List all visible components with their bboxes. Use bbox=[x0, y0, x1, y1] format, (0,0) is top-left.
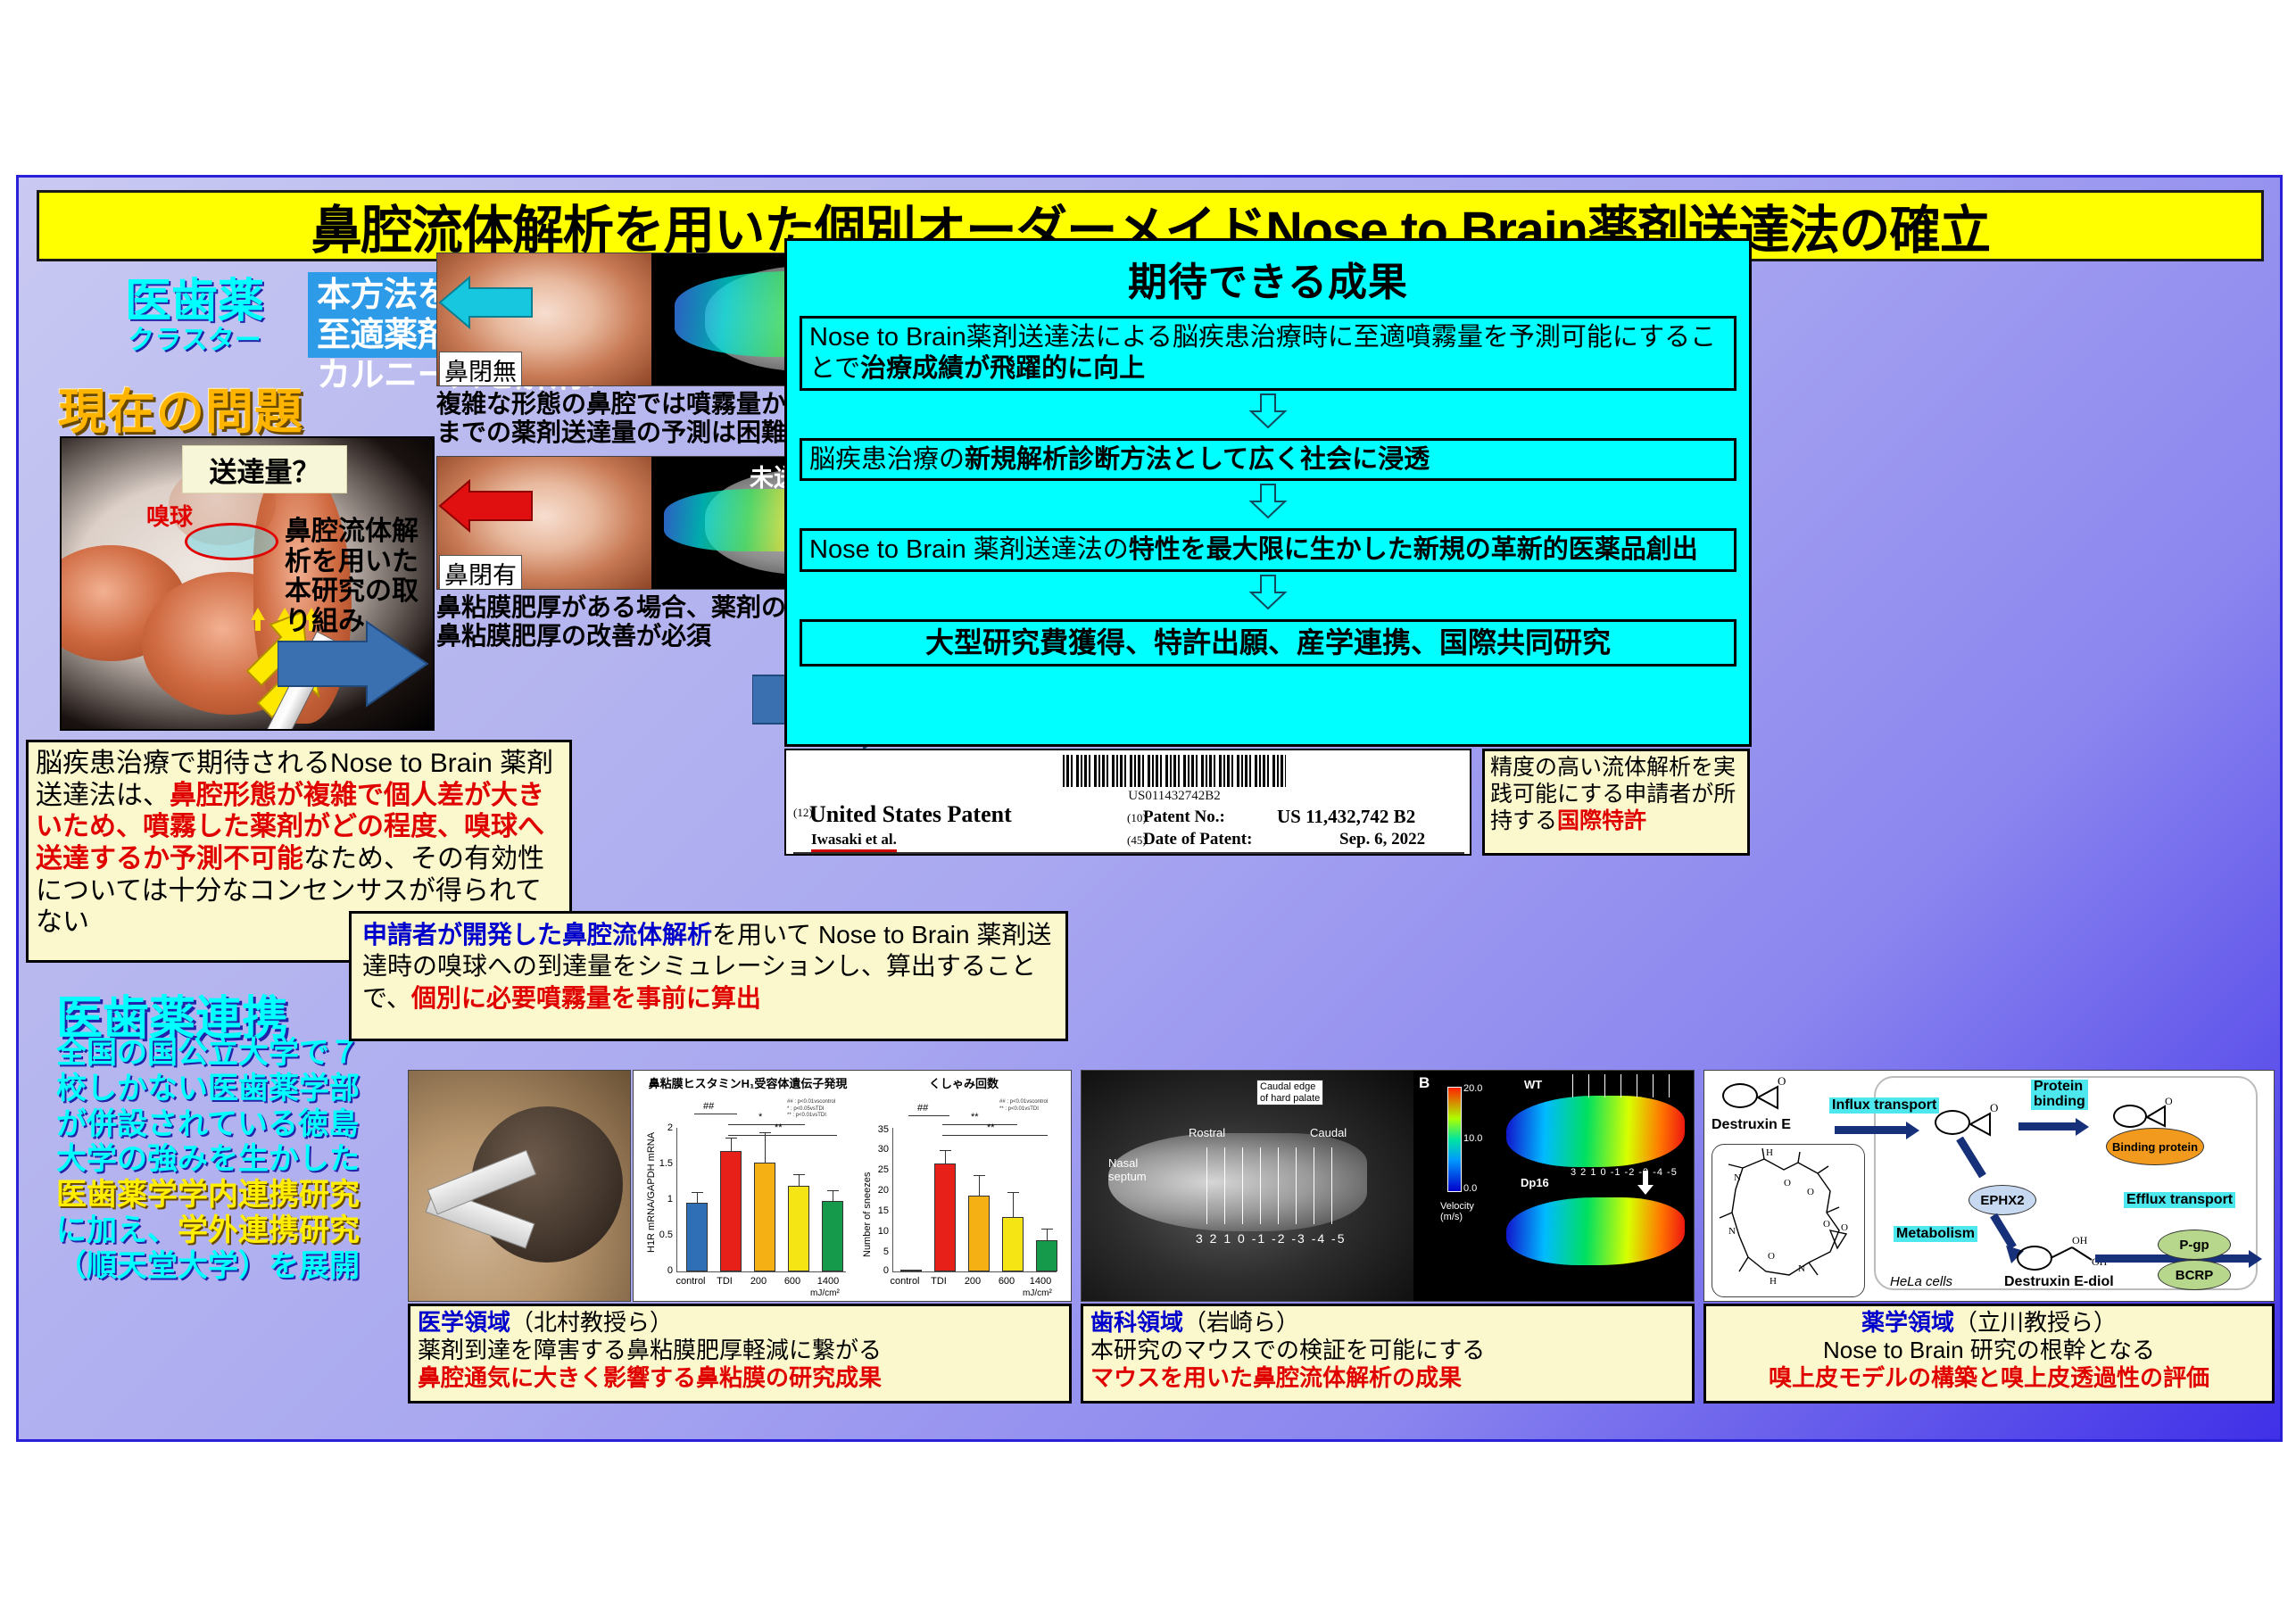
chart-1-xtick: 600 bbox=[775, 1276, 810, 1287]
efflux-arrowhead-icon bbox=[2249, 1250, 2262, 1268]
influx-arrow-icon bbox=[1835, 1126, 1906, 1134]
caption-3-line-2: Nose to Brain 研究の根幹となる bbox=[1713, 1337, 2265, 1364]
chart-1-annotation: ## bbox=[703, 1101, 714, 1112]
section-title-current-problem: 現在の問題 bbox=[58, 372, 303, 443]
poster-canvas: 鼻腔流体解析を用いた個別オーダーメイドNose to Brain薬剤送達法の確立… bbox=[16, 175, 2283, 1442]
outcome-flow-arrow-3 bbox=[787, 575, 1749, 610]
chart-1-ytick: 0.5 bbox=[653, 1230, 673, 1240]
svg-text:H: H bbox=[1770, 1276, 1777, 1287]
chart-2-ytick: 25 bbox=[867, 1164, 889, 1175]
flow-field-dp16 bbox=[1506, 1197, 1685, 1265]
microct-tick bbox=[1206, 1147, 1207, 1224]
arrow-down-icon bbox=[1248, 393, 1288, 429]
applicant-method-text: 申請者が開発した鼻腔流体解析を用いて Nose to Brain 薬剤送達時の嗅… bbox=[362, 919, 1055, 1014]
enzyme-ephx2-oval: EPHX2 bbox=[1969, 1185, 2036, 1215]
chart-2-errorcap bbox=[940, 1150, 951, 1151]
chart-2-ytick: 0 bbox=[867, 1265, 889, 1276]
svg-text:N: N bbox=[1728, 1226, 1736, 1237]
label-wt: WT bbox=[1524, 1078, 1542, 1091]
label-metabolism: Metabolism bbox=[1894, 1226, 1977, 1242]
outcome-item-2: 脳疾患治療の新規解析診断方法として広く社会に浸透 bbox=[800, 438, 1737, 482]
arrow-down-icon bbox=[1248, 484, 1288, 519]
nose-patent-status-tag: 鼻閉無 bbox=[439, 352, 522, 386]
cluster-label-main: 医歯薬 bbox=[65, 277, 324, 327]
microct-tick-row: 3 2 1 0 -1 -2 -3 -4 -5 bbox=[1196, 1231, 1347, 1246]
applicant-method-box: 申請者が開発した鼻腔流体解析を用いて Nose to Brain 薬剤送達時の嗅… bbox=[349, 911, 1068, 1041]
chemical-structure-destruxin-e: H N N O O O O N O H bbox=[1712, 1144, 1865, 1297]
chart-2-sigline bbox=[942, 1135, 1048, 1136]
microct-tick bbox=[1314, 1147, 1314, 1224]
outcome-3-bold: 特性を最大限に生かした新規の革新的医薬品創出 bbox=[1129, 535, 1698, 564]
colorbar-max: 20.0 bbox=[1463, 1083, 1482, 1094]
colorbar-min: 0.0 bbox=[1463, 1183, 1477, 1194]
microct-tick-row-velocity: 3 2 1 0 -1 -2 -3 -4 -5 bbox=[1571, 1167, 1678, 1178]
chart-2-unit-label: mJ/cm² bbox=[1023, 1288, 1052, 1298]
chart-1-sigline bbox=[728, 1135, 837, 1136]
chart-1-bar bbox=[686, 1203, 708, 1271]
chart-1-ytick: 1 bbox=[653, 1194, 673, 1205]
chart-2-sigline bbox=[942, 1124, 1017, 1125]
chart-panel-histamine-sneeze: 鼻粘膜ヒスタミンH₁受容体遺伝子発現 H1R mRNA/GAPDH mRNA 2… bbox=[633, 1070, 1072, 1302]
patent-number-label: Patent No.: bbox=[1143, 807, 1225, 827]
chart-2-xtick: 600 bbox=[989, 1276, 1024, 1287]
epoxide-group-icon: O bbox=[1754, 1076, 1799, 1119]
svg-text:O: O bbox=[1768, 1251, 1775, 1262]
svg-text:O: O bbox=[2165, 1096, 2173, 1107]
chart-1-errorcap bbox=[692, 1192, 703, 1193]
olfactory-bulb-highlight bbox=[185, 523, 278, 560]
chart-1-errorbar bbox=[765, 1133, 766, 1163]
cyan-arrow-left-icon bbox=[438, 276, 536, 329]
microct-nasal-septum-label: Nasal septum bbox=[1108, 1156, 1147, 1183]
molecule-ring-icon bbox=[2113, 1105, 2147, 1128]
velocity-colorbar bbox=[1447, 1087, 1462, 1192]
chart-2-bar bbox=[968, 1196, 990, 1271]
influx-arrowhead-icon bbox=[1906, 1122, 1919, 1139]
chart-2-sigline bbox=[908, 1115, 949, 1116]
method-text-red: 個別に必要噴霧量を事前に算出 bbox=[411, 984, 761, 1012]
chart-1-bar bbox=[788, 1186, 809, 1271]
microct-flow-panel: Caudal edge of hard palate Nasal septum … bbox=[1081, 1070, 1695, 1302]
arrow-down-icon bbox=[1637, 1171, 1654, 1196]
chart-1-xtick: control bbox=[673, 1276, 709, 1287]
chart-2-plot bbox=[892, 1128, 1057, 1272]
chart-2-errorcap bbox=[1041, 1229, 1053, 1230]
svg-text:N: N bbox=[1734, 1172, 1741, 1183]
chart-2-bar bbox=[900, 1270, 922, 1271]
outcome-flow-arrow-2 bbox=[787, 484, 1749, 519]
chart-1-legend-note: ## : p<0.01vscontrol * : p<0.05vsTDI ** … bbox=[787, 1099, 835, 1120]
microct-tick bbox=[1669, 1074, 1670, 1097]
panel-label-b: B bbox=[1419, 1074, 1430, 1092]
chart-2-bar bbox=[934, 1163, 956, 1271]
chart-1-plot bbox=[676, 1128, 846, 1272]
chart-1-errorcap bbox=[725, 1138, 737, 1139]
expected-outcomes-panel: 期待できる成果 Nose to Brain薬剤送達法による脳疾患治療時に至適噴霧… bbox=[784, 238, 1752, 747]
red-arrow-left-icon bbox=[438, 479, 536, 533]
patent-number-value: US 11,432,742 B2 bbox=[1277, 806, 1415, 828]
label-efflux-transport: Efflux transport bbox=[2124, 1192, 2235, 1208]
microct-caudal-edge-label: Caudal edge of hard palate bbox=[1256, 1080, 1323, 1105]
chart-2-bar bbox=[1002, 1217, 1024, 1271]
chart-1-bar bbox=[754, 1163, 775, 1271]
microct-tick bbox=[1637, 1074, 1637, 1097]
svg-text:O: O bbox=[1823, 1219, 1830, 1230]
chart-1-ytick: 0 bbox=[653, 1265, 673, 1276]
bottom-caption-pharmacy: 薬学領域（立川教授ら） Nose to Brain 研究の根幹となる 嗅上皮モデ… bbox=[1703, 1304, 2275, 1404]
patent-author: Iwasaki et al. bbox=[811, 831, 897, 852]
svg-text:O: O bbox=[1841, 1222, 1848, 1233]
chart-2-xtick: control bbox=[887, 1276, 923, 1287]
chart-2-errorcap bbox=[974, 1175, 985, 1176]
chart-1-errorbar bbox=[833, 1191, 833, 1201]
chart-1-xtick: 1400 bbox=[808, 1276, 848, 1287]
transporter-pgp-oval: P-gp bbox=[2158, 1230, 2231, 1260]
outcome-item-final: 大型研究費獲得、特許出願、産学連携、国際共同研究 bbox=[800, 619, 1737, 666]
svg-text:H: H bbox=[1766, 1147, 1773, 1158]
barcode-number: US011432742B2 bbox=[1063, 789, 1286, 804]
outcome-2-bold: 新規解析診断方法として広く社会に浸透 bbox=[965, 445, 1430, 474]
renkei-yellow-1: 医歯薬学学内連携研究 bbox=[56, 1178, 360, 1212]
molecule-ring-icon bbox=[1722, 1083, 1758, 1108]
patent-date-label: Date of Patent: bbox=[1143, 830, 1252, 849]
caption-3-paren: （立川教授ら） bbox=[1954, 1309, 2117, 1336]
patent-document-image: US011432742B2 (12) United States Patent … bbox=[784, 749, 1471, 856]
chart-1-bar bbox=[822, 1201, 843, 1271]
microct-airway bbox=[1108, 1133, 1367, 1231]
microct-tick bbox=[1620, 1074, 1621, 1097]
chart-2-xtick: TDI bbox=[921, 1276, 957, 1287]
label-dp16: Dp16 bbox=[1521, 1176, 1549, 1189]
microct-tick bbox=[1278, 1147, 1279, 1224]
chart-2-xtick: 200 bbox=[955, 1276, 991, 1287]
microct-caudal-label: Caudal bbox=[1310, 1126, 1347, 1139]
microct-tick bbox=[1588, 1074, 1589, 1097]
chart-1-sigline bbox=[728, 1124, 805, 1125]
caption-3-line-1: 薬学領域（立川教授ら） bbox=[1713, 1309, 2265, 1337]
svg-text:O: O bbox=[1784, 1178, 1791, 1188]
epoxide-group-icon: O bbox=[2143, 1096, 2184, 1133]
microct-tick bbox=[1572, 1074, 1573, 1097]
molecule-ring-icon bbox=[2017, 1246, 2052, 1271]
microct-rostral-label: Rostral bbox=[1189, 1126, 1225, 1139]
renkei-cyan-1: 全国の国公立大学で７校しかない医歯薬学部が併設されている徳島大学の強みを生かした bbox=[56, 1036, 360, 1176]
chart-1-errorcap bbox=[827, 1190, 839, 1191]
caption-2-line-3: マウスを用いた鼻腔流体解析の成果 bbox=[1090, 1364, 1685, 1392]
caption-2-header: 歯科領域 bbox=[1090, 1309, 1183, 1336]
problem-description-text: 脳疾患治療で期待されるNose to Brain 薬剤送達法は、鼻腔形態が複雑で… bbox=[36, 748, 562, 939]
blue-arrow-right-icon bbox=[278, 615, 429, 713]
chart-1-annotation: * bbox=[758, 1112, 762, 1122]
cluster-label-sub: クラスター bbox=[65, 327, 324, 355]
microct-tick bbox=[1242, 1147, 1243, 1224]
chart-2-xtick: 1400 bbox=[1021, 1276, 1060, 1287]
chart-2-ytick: 20 bbox=[867, 1185, 889, 1196]
arrow-down-icon bbox=[1248, 575, 1288, 610]
chart-1-bar bbox=[720, 1151, 742, 1271]
caption-1-paren: （北村教授ら） bbox=[510, 1309, 673, 1336]
chart-1-annotation: ** bbox=[775, 1122, 783, 1133]
chart-2-bar bbox=[1036, 1240, 1057, 1271]
chart-2-errorcap bbox=[1007, 1192, 1019, 1193]
transporter-bcrp-oval: BCRP bbox=[2158, 1260, 2231, 1290]
chart-1-errorbar bbox=[697, 1193, 698, 1203]
outcome-2-plain: 脳疾患治療の bbox=[809, 445, 965, 474]
caption-2-line-1: 歯科領域（岩崎ら） bbox=[1090, 1309, 1685, 1337]
chart-1-xtick: TDI bbox=[707, 1276, 742, 1287]
collaboration-description: 全国の国公立大学で７校しかない医歯薬学部が併設されている徳島大学の強みを生かした… bbox=[56, 1036, 386, 1284]
chart-2-annotation: ** bbox=[971, 1112, 979, 1122]
outcome-3-plain: Nose to Brain 薬剤送達法の bbox=[809, 535, 1129, 564]
chart-1-xtick: 200 bbox=[741, 1276, 776, 1287]
chart-1-ytick: 2 bbox=[653, 1122, 673, 1133]
binding-arrowhead-icon bbox=[2076, 1118, 2089, 1136]
caption-1-line-3: 鼻腔通気に大きく影響する鼻粘膜の研究成果 bbox=[418, 1364, 1062, 1392]
mouse-photo bbox=[408, 1070, 631, 1302]
caption-1-line-1: 医学領域（北村教授ら） bbox=[418, 1309, 1062, 1337]
caption-2-paren: （岩崎ら） bbox=[1183, 1309, 1299, 1336]
bottom-caption-dentistry: 歯科領域（岩崎ら） 本研究のマウスでの検証を可能にする マウスを用いた鼻腔流体解… bbox=[1081, 1304, 1695, 1404]
patent-note-red: 国際特許 bbox=[1557, 808, 1646, 833]
label-destruxin-e: Destruxin E bbox=[1712, 1117, 1791, 1133]
colorbar-unit: Velocity (m/s) bbox=[1440, 1201, 1474, 1222]
patent-date-value: Sep. 6, 2022 bbox=[1339, 830, 1425, 849]
cluster-label: 医歯薬 クラスター bbox=[65, 277, 324, 376]
microct-tick bbox=[1653, 1074, 1654, 1097]
chart-2-errorbar bbox=[1047, 1230, 1048, 1240]
outcome-1-bold: 治療成績が飛躍的に向上 bbox=[860, 354, 1145, 383]
svg-text:O: O bbox=[1807, 1187, 1814, 1197]
delivery-amount-label: 送達量？ bbox=[182, 445, 347, 493]
binding-arrow-icon bbox=[2018, 1122, 2076, 1130]
chart-1-unit-label: mJ/cm² bbox=[810, 1288, 840, 1298]
microct-tick bbox=[1296, 1147, 1297, 1224]
chart-1-title: 鼻粘膜ヒスタミンH₁受容体遺伝子発現 bbox=[641, 1074, 855, 1091]
molecule-ring-icon bbox=[1935, 1110, 1970, 1135]
outcome-item-3: Nose to Brain 薬剤送達法の特性を最大限に生かした新規の革新的医薬品… bbox=[800, 528, 1737, 572]
caption-1-line-2: 薬剤到達を障害する鼻粘膜肥厚軽減に繋がる bbox=[418, 1337, 1062, 1364]
caption-1-header: 医学領域 bbox=[418, 1309, 510, 1336]
chart-1-ytick: 1.5 bbox=[653, 1158, 673, 1169]
label-influx-transport: Influx transport bbox=[1829, 1097, 1939, 1114]
caption-3-header: 薬学領域 bbox=[1861, 1309, 1954, 1336]
bar-chart-h1r-expression: 鼻粘膜ヒスタミンH₁受容体遺伝子発現 H1R mRNA/GAPDH mRNA 2… bbox=[641, 1074, 855, 1299]
nose-patent-status-tag: 鼻閉有 bbox=[439, 555, 522, 590]
expected-outcomes-title: 期待できる成果 bbox=[787, 250, 1749, 307]
flow-field-wt bbox=[1506, 1096, 1685, 1167]
chart-2-ytick: 35 bbox=[867, 1124, 889, 1135]
renkei-yellow-2: 学外連携研究 bbox=[178, 1213, 360, 1247]
label-hela-cells: HeLa cells bbox=[1890, 1274, 1952, 1289]
microct-tick bbox=[1224, 1147, 1225, 1224]
microct-tick bbox=[1604, 1074, 1605, 1097]
olfactory-bulb-label: 嗅球 bbox=[146, 499, 193, 532]
renkei-cyan-2: に加え、 bbox=[56, 1213, 178, 1247]
microct-velocity-panel: B 20.0 10.0 0.0 Velocity (m/s) WT Dp16 3… bbox=[1413, 1071, 1695, 1302]
chart-2-legend-note: ## : p<0.01vscontrol ** : p<0.01vsTDI bbox=[999, 1099, 1048, 1113]
label-destruxin-e-diol: Destruxin E-diol bbox=[2004, 1274, 2114, 1290]
barcode-icon bbox=[1063, 755, 1286, 787]
microct-tick bbox=[1260, 1147, 1261, 1224]
chart-2-errorbar bbox=[945, 1151, 946, 1163]
bottom-caption-medicine: 医学領域（北村教授ら） 薬剤到達を障害する鼻粘膜肥厚軽減に繋がる 鼻腔通気に大き… bbox=[408, 1304, 1072, 1404]
binding-protein-oval: Binding protein bbox=[2106, 1128, 2204, 1165]
pharmacology-diagram: O Destruxin E Influx transport O Protein… bbox=[1703, 1070, 2275, 1302]
chart-2-errorbar bbox=[979, 1176, 980, 1196]
microct-tick bbox=[1331, 1147, 1332, 1224]
chart-1-sigline bbox=[694, 1114, 737, 1114]
label-protein-binding: Protein binding bbox=[2031, 1080, 2088, 1110]
chart-1-errorcap bbox=[759, 1132, 771, 1133]
renkei-cyan-3: （順天堂大学）を展開 bbox=[56, 1249, 360, 1283]
svg-text:O: O bbox=[1778, 1076, 1786, 1088]
patent-office-title: United States Patent bbox=[809, 801, 1012, 828]
patent-note-box: 精度の高い流体解析を実践可能にする申請者が所持する国際特許 bbox=[1482, 749, 1750, 856]
microct-scan-image: Caudal edge of hard palate Nasal septum … bbox=[1082, 1071, 1413, 1302]
chart-1-errorcap bbox=[793, 1174, 805, 1175]
colorbar-mid: 10.0 bbox=[1463, 1133, 1482, 1144]
chart-2-annotation: ** bbox=[987, 1122, 995, 1133]
chart-2-ytick: 5 bbox=[867, 1246, 889, 1257]
method-text-blue: 申請者が開発した鼻腔流体解析 bbox=[362, 921, 712, 948]
chart-2-ytick: 10 bbox=[867, 1226, 889, 1237]
outcome-item-1: Nose to Brain薬剤送達法による脳疾患治療時に至適噴霧量を予測可能にす… bbox=[800, 316, 1737, 391]
chart-2-title: くしゃみ回数 bbox=[858, 1074, 1069, 1091]
chart-2-annotation: ## bbox=[917, 1103, 928, 1114]
bar-chart-sneeze-count: くしゃみ回数 Number of sneezes 35 30 25 20 15 … bbox=[858, 1074, 1069, 1299]
chart-1-errorbar bbox=[731, 1139, 732, 1151]
metabolism-arrow-icon bbox=[1956, 1137, 2001, 1187]
chart-2-errorbar bbox=[1013, 1193, 1014, 1217]
chart-1-errorbar bbox=[799, 1175, 800, 1186]
chart-2-ytick: 15 bbox=[867, 1205, 889, 1216]
svg-text:N: N bbox=[1798, 1263, 1805, 1274]
chart-2-ytick: 30 bbox=[867, 1144, 889, 1155]
caption-3-line-3: 嗅上皮モデルの構築と嗅上皮透過性の評価 bbox=[1713, 1364, 2265, 1392]
chemical-structure-svg: H N N O O O O N O H bbox=[1712, 1145, 1866, 1298]
outcome-flow-arrow-1 bbox=[787, 393, 1749, 429]
svg-text:O: O bbox=[1990, 1101, 1998, 1114]
caption-2-line-2: 本研究のマウスでの検証を可能にする bbox=[1090, 1337, 1685, 1364]
patent-divider bbox=[793, 852, 1464, 854]
svg-text:OH: OH bbox=[2072, 1234, 2088, 1246]
